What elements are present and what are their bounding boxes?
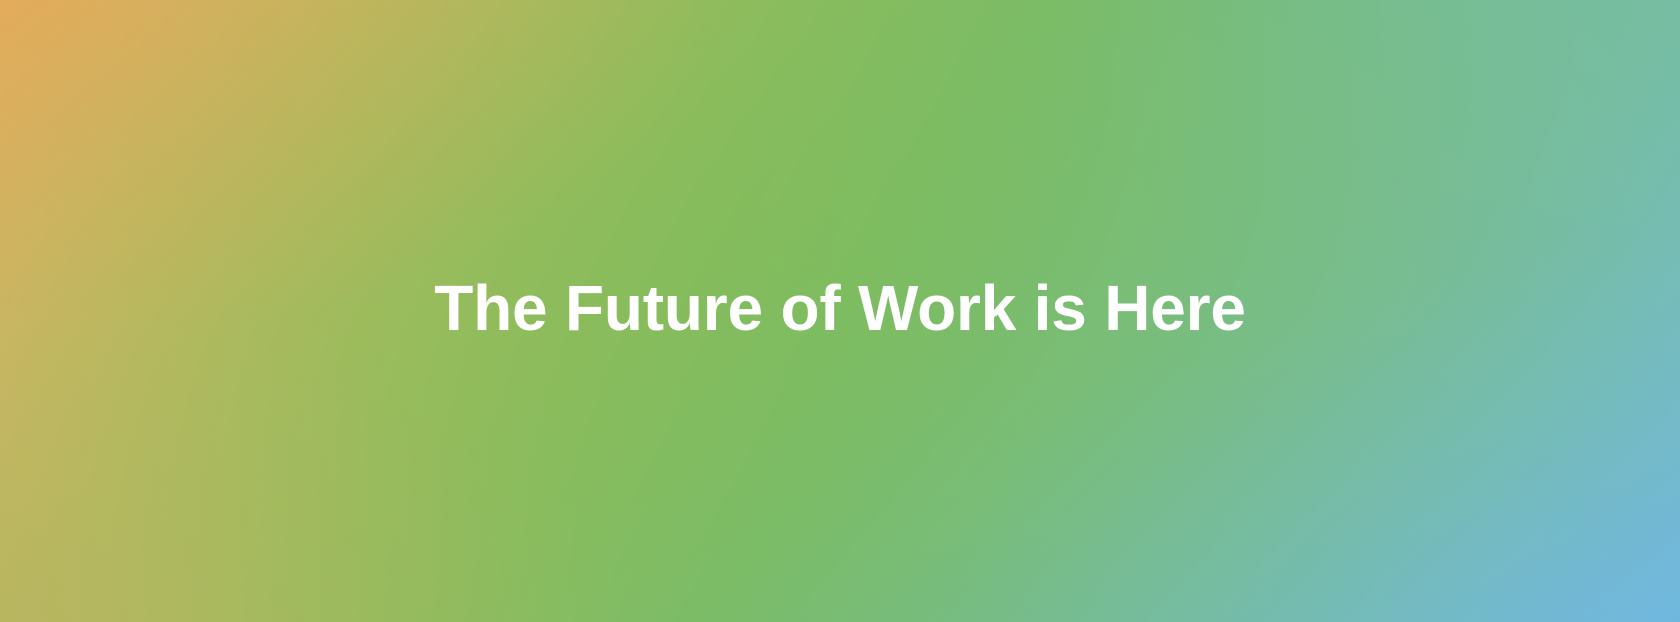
page-title: The Future of Work is Here xyxy=(0,272,1680,346)
hero-banner: The Future of Work is Here xyxy=(0,0,1680,622)
hero-content: The Future of Work is Here xyxy=(0,272,1680,350)
